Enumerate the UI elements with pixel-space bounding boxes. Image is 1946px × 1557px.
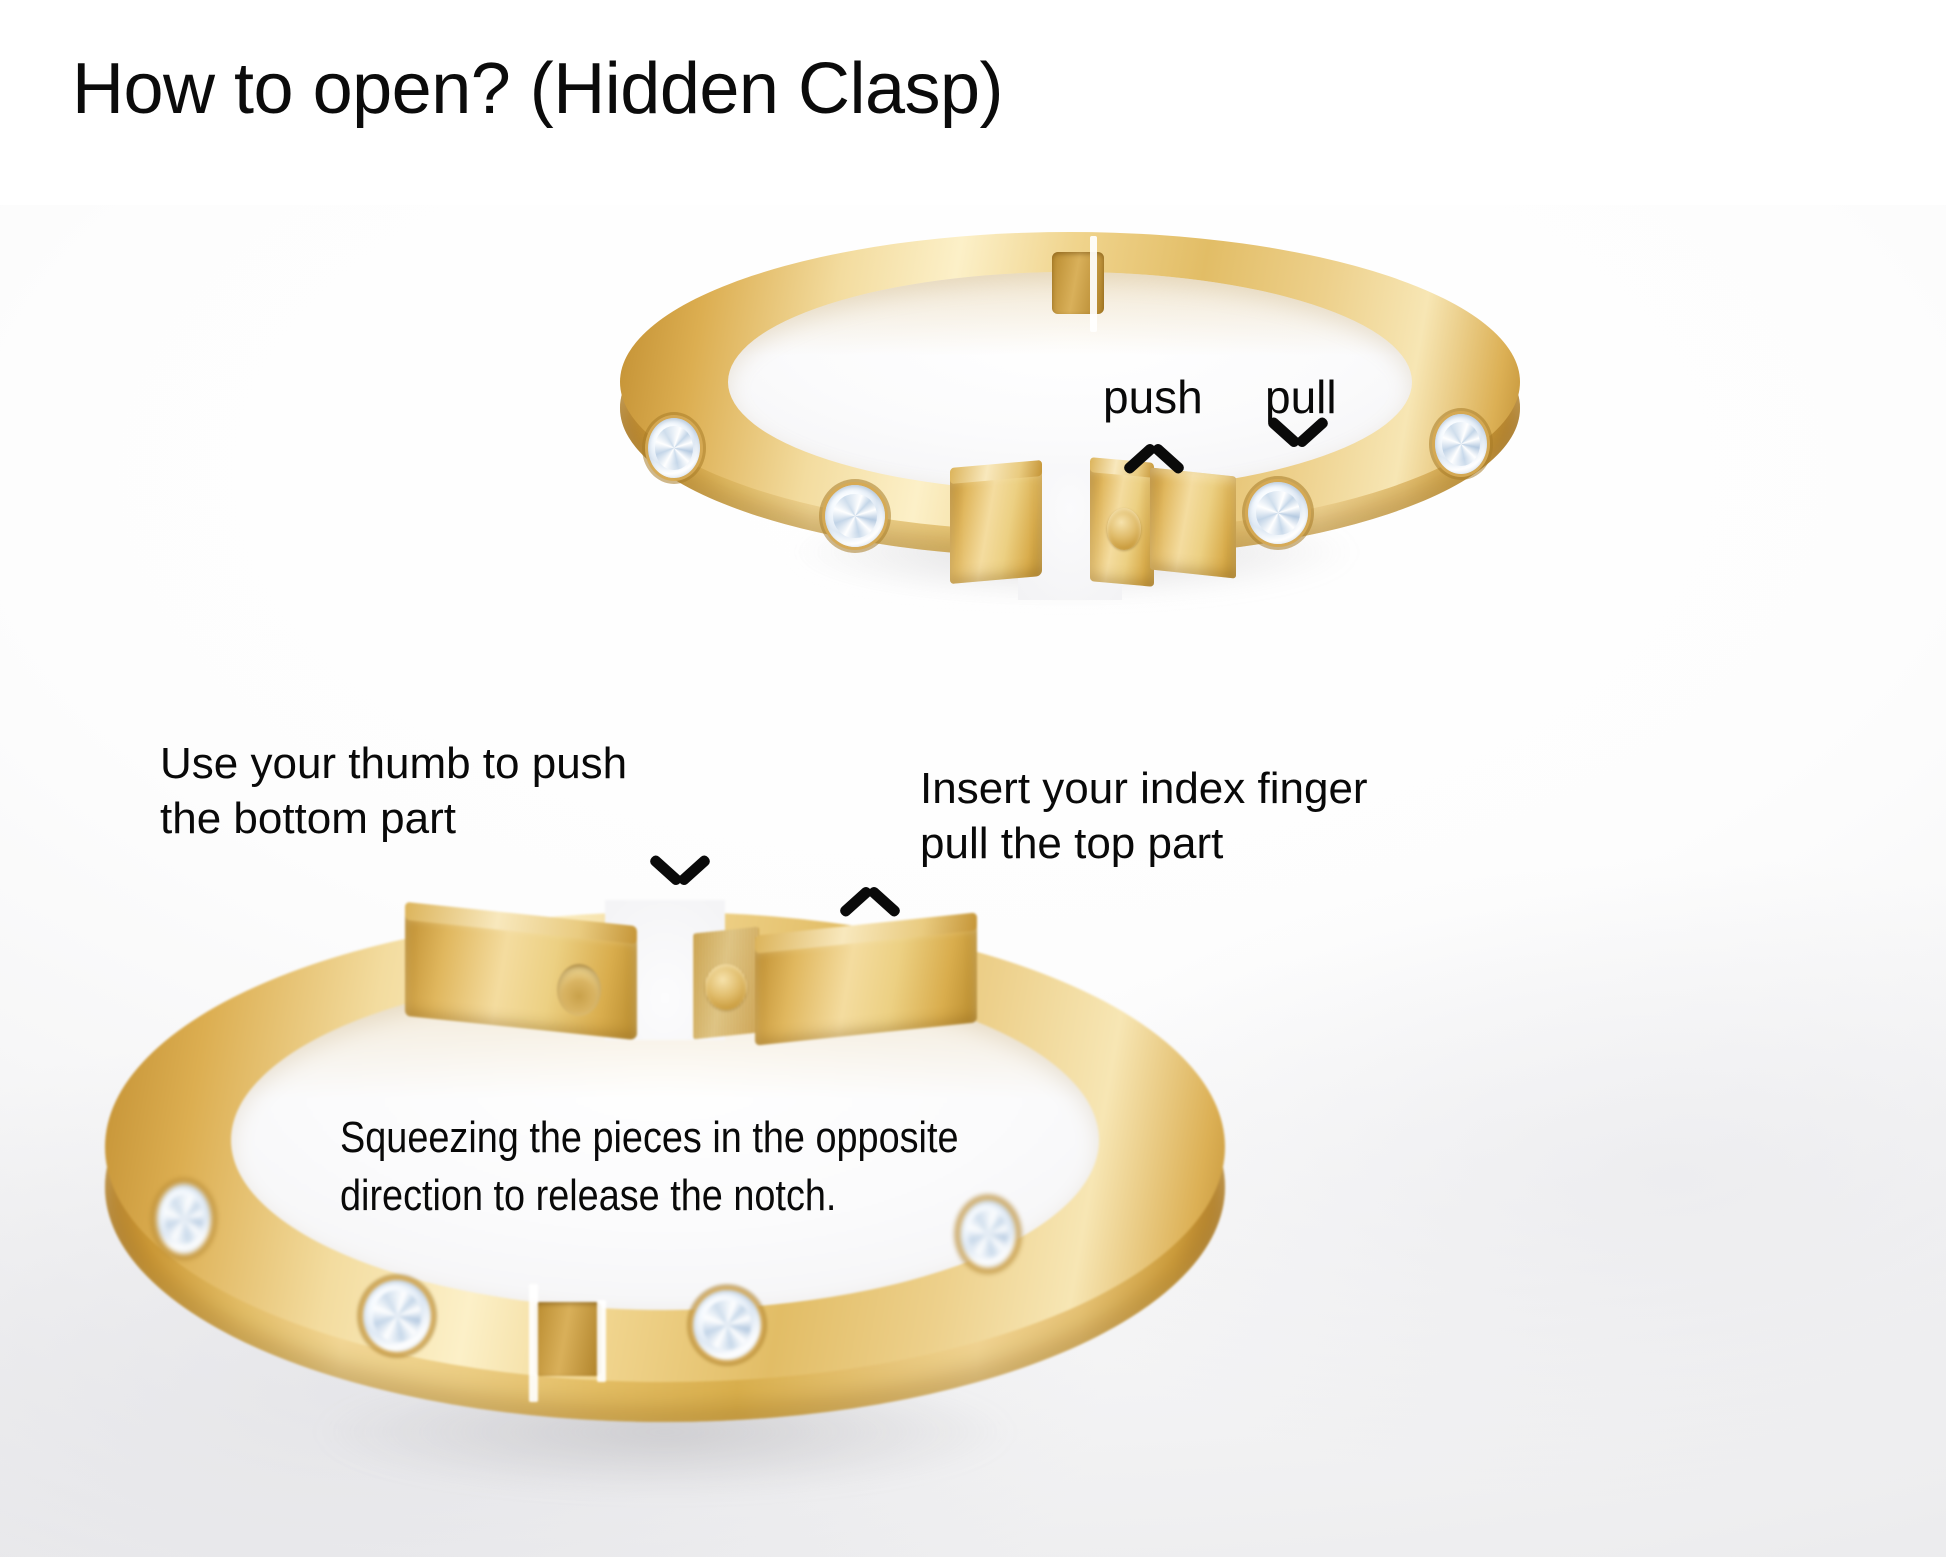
- pull-label: pull: [1265, 370, 1337, 424]
- chevron-up-icon: [840, 868, 900, 910]
- bottom-bangle-hinge-seam-left: [529, 1284, 538, 1402]
- instruction-left-line2: the bottom part: [160, 793, 456, 845]
- push-label: push: [1103, 370, 1203, 424]
- gem: [693, 1290, 761, 1360]
- instruction-left-line1: Use your thumb to push: [160, 738, 627, 790]
- top-bangle-clasp-pin: [1107, 508, 1141, 550]
- instruction-right-line2: pull the top part: [920, 818, 1223, 870]
- gem: [648, 418, 700, 478]
- bottom-caption-line2: direction to release the notch.: [340, 1170, 836, 1222]
- gem: [363, 1280, 431, 1352]
- gem: [825, 485, 885, 547]
- gem: [157, 1184, 211, 1254]
- top-bangle-clasp-right-arm: [1150, 467, 1236, 578]
- gem: [960, 1200, 1016, 1268]
- gem: [1435, 414, 1487, 474]
- top-bangle-hinge-seam: [1090, 236, 1097, 332]
- bottom-bangle-hinge-seam-right: [597, 1300, 606, 1382]
- page-title: How to open? (Hidden Clasp): [72, 52, 1003, 128]
- top-bangle-clasp-left: [950, 468, 1042, 584]
- chevron-down-icon: [1268, 424, 1328, 466]
- bottom-clasp-socket: [557, 964, 601, 1016]
- chevron-down-icon: [650, 862, 710, 904]
- infographic-stage: How to open? (Hidden Clasp) push p: [0, 0, 1946, 1557]
- bottom-clasp-pin: [705, 964, 747, 1010]
- chevron-up-icon: [1124, 425, 1184, 467]
- bottom-bangle-hinge: [535, 1302, 601, 1376]
- gem: [1248, 482, 1308, 544]
- bottom-caption-line1: Squeezing the pieces in the opposite: [340, 1112, 959, 1164]
- instruction-right-line1: Insert your index finger: [920, 763, 1368, 815]
- top-bangle: [620, 232, 1520, 582]
